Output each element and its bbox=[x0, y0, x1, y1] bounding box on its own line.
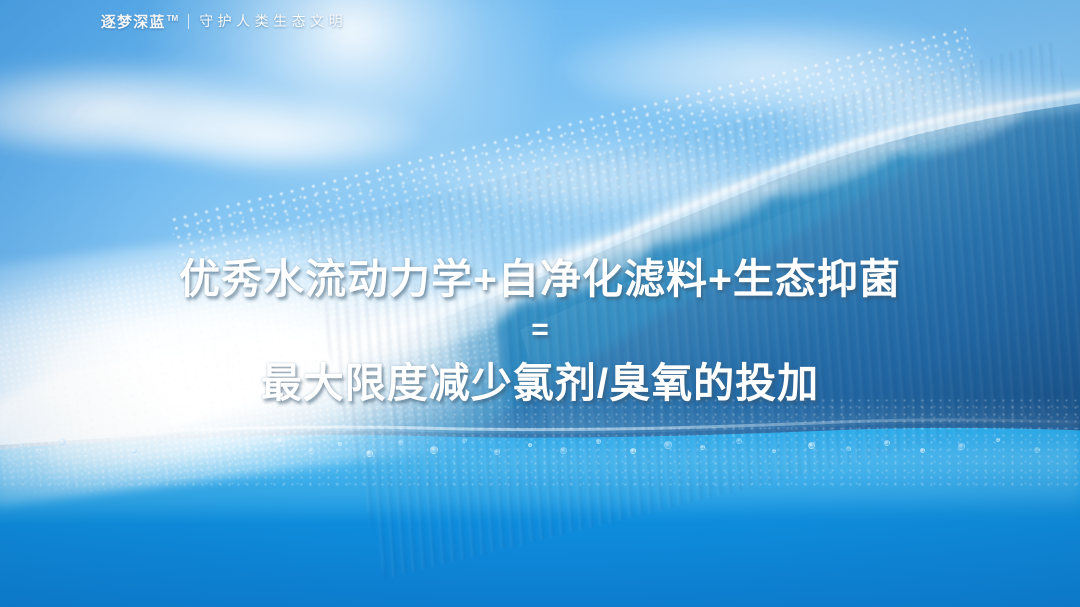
water-bubble bbox=[846, 446, 851, 451]
water-bubble bbox=[82, 450, 88, 456]
header-inner: 逐梦深蓝TM 守护人类生态文明 bbox=[101, 11, 347, 32]
waterline-bubbles bbox=[0, 432, 1080, 466]
water-bubble bbox=[772, 449, 776, 453]
water-bubble bbox=[958, 443, 965, 450]
water-bubble bbox=[398, 440, 403, 445]
water-bubble bbox=[596, 439, 601, 444]
water-bubble bbox=[736, 438, 742, 444]
water-bubble bbox=[36, 448, 41, 453]
water-bubble bbox=[996, 438, 1000, 442]
header-divider bbox=[188, 14, 189, 29]
water-bubble bbox=[920, 448, 925, 453]
water-bubble bbox=[308, 448, 314, 454]
water-bubble bbox=[528, 443, 532, 447]
headline-line-3: 最大限度减少氯剂/臭氧的投加 bbox=[0, 355, 1080, 411]
water-bubble bbox=[1034, 447, 1040, 453]
water-bubble bbox=[462, 438, 467, 443]
water-bubble bbox=[18, 442, 25, 449]
headline-block: 优秀水流动力学+自净化滤料+生态抑菌 = 最大限度减少氯剂/臭氧的投加 bbox=[0, 253, 1080, 411]
slide-stage: 逐梦深蓝TM 守护人类生态文明 优秀水流动力学+自净化滤料+生态抑菌 = 最大限… bbox=[0, 0, 1080, 607]
water-bubble bbox=[808, 442, 815, 449]
water-bubble bbox=[884, 440, 890, 446]
water-bubble bbox=[630, 448, 636, 454]
water-bubble bbox=[560, 447, 567, 454]
water-bubble bbox=[130, 447, 138, 455]
water-bubble bbox=[366, 450, 373, 457]
water-bubble bbox=[430, 446, 438, 454]
headline-line-1: 优秀水流动力学+自净化滤料+生态抑菌 bbox=[0, 253, 1080, 305]
water-bubble bbox=[104, 443, 108, 447]
water-bubble bbox=[664, 441, 672, 449]
water-bubble bbox=[158, 439, 163, 444]
water-bubble bbox=[338, 442, 342, 446]
brand-text: 逐梦深蓝 bbox=[101, 14, 166, 31]
headline-equals: = bbox=[0, 305, 1080, 355]
trademark-icon: TM bbox=[167, 14, 179, 23]
water-bubble bbox=[276, 437, 285, 446]
water-bubble bbox=[700, 445, 705, 450]
water-bubble bbox=[186, 449, 192, 455]
water-bubble bbox=[494, 449, 500, 455]
brand-name: 逐梦深蓝TM bbox=[101, 11, 178, 32]
brand-tagline: 守护人类生态文明 bbox=[199, 11, 347, 31]
water-bubble bbox=[246, 446, 251, 451]
water-bubble bbox=[214, 441, 221, 448]
water-bubble bbox=[58, 438, 67, 447]
